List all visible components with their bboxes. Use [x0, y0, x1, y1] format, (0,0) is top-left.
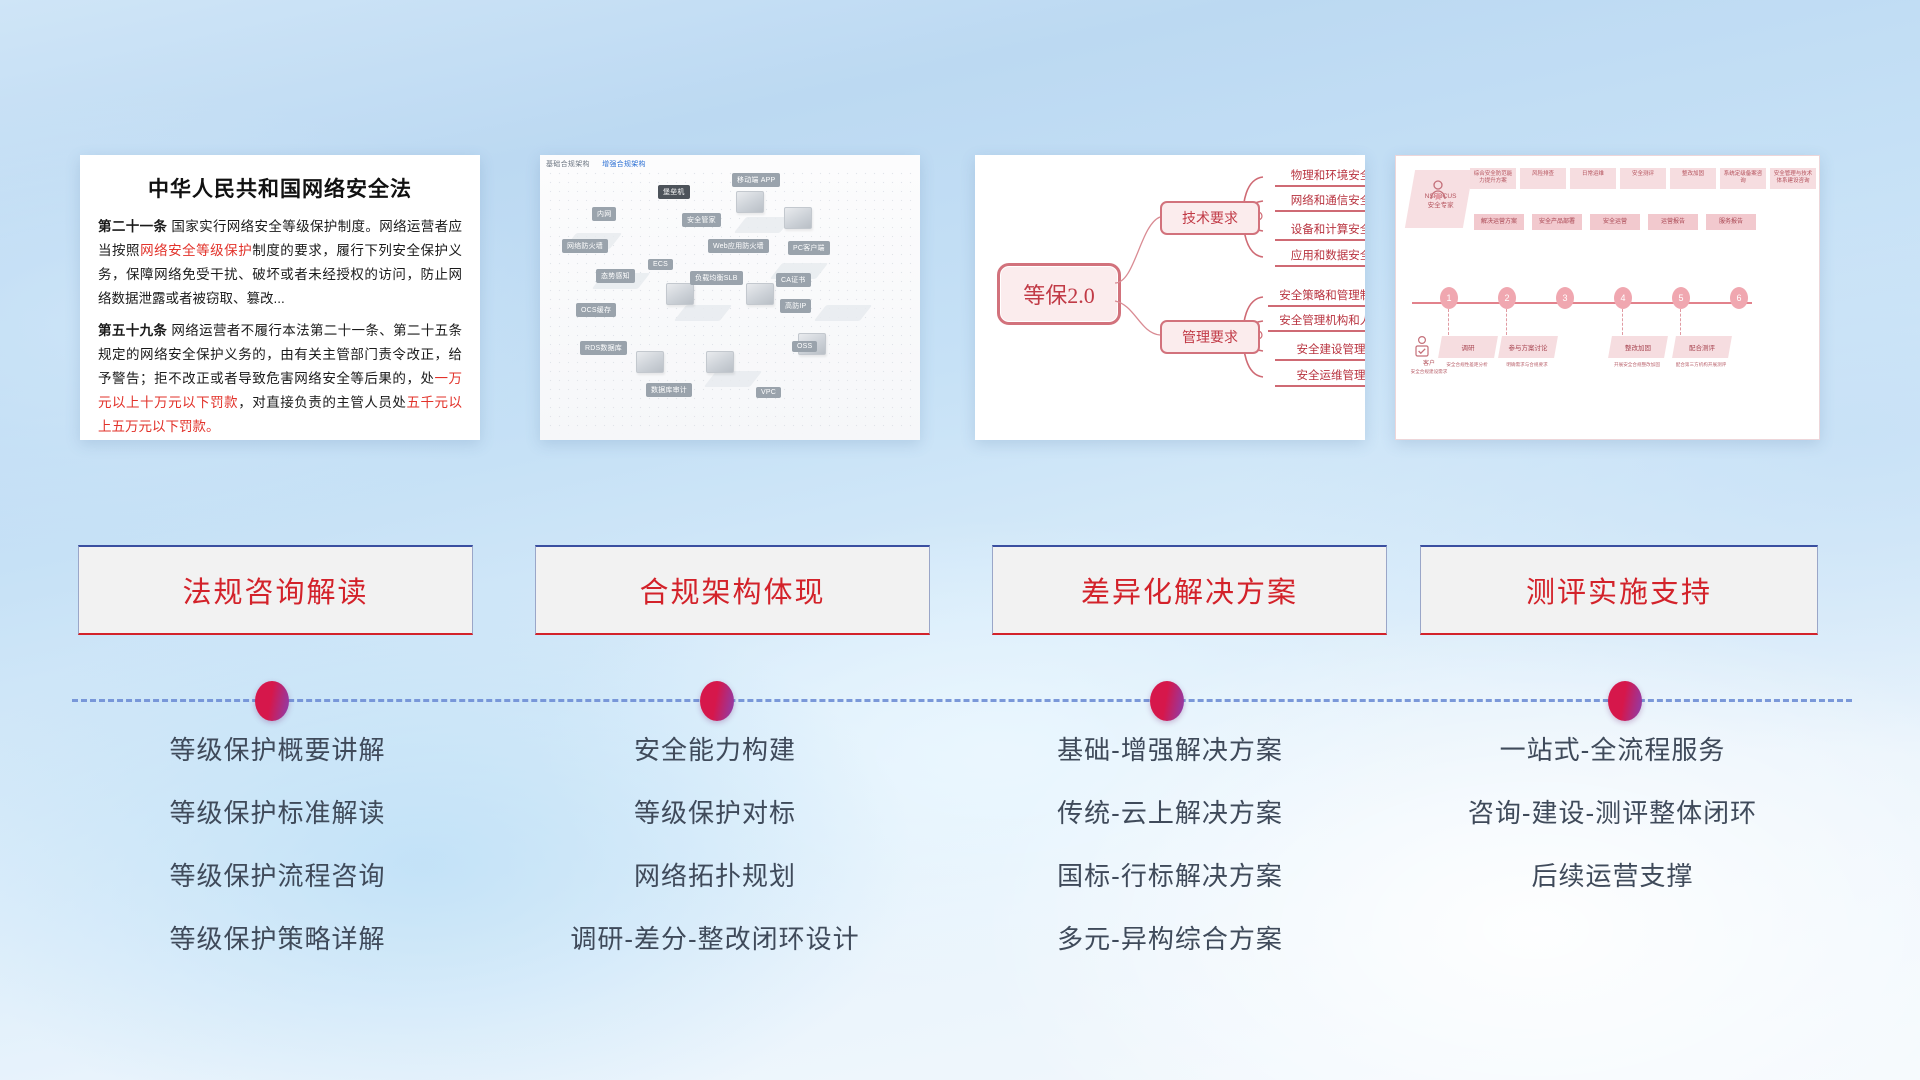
arch-label-node: 态势感知 — [596, 269, 635, 283]
arch-label-node: CA证书 — [776, 273, 811, 287]
law-article-21-highlight: 网络安全等级保护 — [140, 243, 252, 258]
law-document: 中华人民共和国网络安全法 第二十一条 国家实行网络安全等级保护制度。网络运营者应… — [80, 155, 480, 440]
detail-item: 网络拓扑规划 — [500, 856, 930, 893]
nsfocus-phase-tag: 运营报告 — [1648, 214, 1698, 230]
nsfocus-top-tag: 安全管理与技术体系建设咨询 — [1770, 168, 1816, 189]
timeline-marker-2[interactable] — [700, 681, 734, 721]
title-box-differentiated-solution[interactable]: 差异化解决方案 — [992, 545, 1387, 635]
mindmap-leaf: 安全建设管理 — [1275, 341, 1365, 361]
nsfocus-expert-role: 安全专家 — [1412, 201, 1470, 210]
title-box-label: 合规架构体现 — [639, 569, 825, 611]
architecture-tab-enhanced[interactable]: 增强合规架构 — [602, 161, 646, 168]
law-article-59-head: 第五十九条 — [98, 323, 167, 338]
arch-node-icon — [636, 351, 664, 373]
nsfocus-top-tags: 综合安全防范能力提升方案 风险排查 日常运维 安全测评 整改加固 系统定级备案咨… — [1470, 168, 1816, 189]
nsfocus-step-number: 3 — [1556, 287, 1574, 309]
detail-item: 安全能力构建 — [500, 730, 930, 767]
arch-label-node: 高防IP — [780, 299, 811, 313]
nsfocus-flow-step: 参与方案讨论 — [1498, 336, 1558, 358]
service-detail-columns: 等级保护概要讲解 等级保护标准解读 等级保护流程咨询 等级保护策略详解 安全能力… — [0, 730, 1920, 1050]
law-paragraph-59: 第五十九条 网络运营者不履行本法第二十一条、第二十五条规定的网络安全保护义务的，… — [98, 319, 462, 439]
detail-item: 等级保护标准解读 — [65, 793, 490, 830]
nsfocus-top-tag: 风险排查 — [1520, 168, 1566, 189]
mindmap-leaf: 应用和数据安全 — [1275, 247, 1365, 267]
arch-label-node: ECS — [648, 259, 673, 270]
mindmap-leaf: 设备和计算安全 — [1275, 221, 1365, 241]
arch-label-node: 堡垒机 — [658, 185, 690, 199]
arch-label-node: 负载均衡SLB — [690, 271, 743, 285]
card-nsfocus-service-flow[interactable]: NSFOCUS 安全专家 综合安全防范能力提升方案 风险排查 日常运维 安全测评… — [1395, 155, 1820, 440]
architecture-tabs[interactable]: 基础合规架构 增强合规架构 — [546, 159, 656, 169]
card-mindmap-dengbao[interactable]: 等保2.0 技术要求 管理要求 物理和环境安全 网络和通信安全 设备和计算安全 — [975, 155, 1365, 440]
nsfocus-flow-step: 整改加固 — [1608, 336, 1668, 358]
mindmap-leaf: 安全策略和管理制度 — [1268, 287, 1365, 307]
detail-item: 等级保护对标 — [500, 793, 930, 830]
detail-item: 等级保护流程咨询 — [65, 856, 490, 893]
top-image-cards: 中华人民共和国网络安全法 第二十一条 国家实行网络安全等级保护制度。网络运营者应… — [0, 0, 1920, 440]
mindmap-leaf: 安全管理机构和人员 — [1268, 312, 1365, 332]
nsfocus-timeline-axis — [1412, 302, 1752, 304]
mindmap: 等保2.0 技术要求 管理要求 物理和环境安全 网络和通信安全 设备和计算安全 — [975, 155, 1365, 440]
arch-label-node: 数据库审计 — [646, 383, 692, 397]
law-title: 中华人民共和国网络安全法 — [98, 173, 462, 203]
nsfocus-step-number: 4 — [1614, 287, 1632, 309]
title-box-compliance-architecture[interactable]: 合规架构体现 — [535, 545, 930, 635]
timeline-marker-3[interactable] — [1150, 681, 1184, 721]
arch-label-node: VPC — [756, 387, 781, 398]
title-box-label: 测评实施支持 — [1526, 569, 1712, 611]
arch-label-node: PC客户端 — [788, 241, 830, 255]
law-article-21-head: 第二十一条 — [98, 219, 167, 234]
nsfocus-flow-substep: 配合第三方机构开展测评 — [1666, 362, 1736, 368]
nsfocus-phase-tag: 安全运营 — [1590, 214, 1640, 230]
detail-item: 基础-增强解决方案 — [955, 730, 1385, 767]
timeline-marker-1[interactable] — [255, 681, 289, 721]
nsfocus-diagram: NSFOCUS 安全专家 综合安全防范能力提升方案 风险排查 日常运维 安全测评… — [1395, 155, 1820, 440]
arch-label-node: 移动端 APP — [732, 173, 780, 187]
nsfocus-top-tag: 综合安全防范能力提升方案 — [1470, 168, 1516, 189]
nsfocus-phase-tag: 服务报告 — [1706, 214, 1756, 230]
detail-item: 一站式-全流程服务 — [1395, 730, 1830, 767]
nsfocus-dash-connector — [1622, 309, 1623, 335]
law-article-59-text-b: ，对直接负责的主管人员处 — [238, 395, 406, 410]
title-box-regulation-consulting[interactable]: 法规咨询解读 — [78, 545, 473, 635]
arch-node-icon — [736, 191, 764, 213]
title-box-label: 法规咨询解读 — [182, 569, 368, 611]
arch-node-icon — [706, 351, 734, 373]
nsfocus-step-number: 5 — [1672, 287, 1690, 309]
nsfocus-flow-substep: 开展安全合规整改加固 — [1602, 362, 1672, 368]
card-cybersecurity-law[interactable]: 中华人民共和国网络安全法 第二十一条 国家实行网络安全等级保护制度。网络运营者应… — [80, 155, 480, 440]
nsfocus-top-tag: 系统定级备案咨询 — [1720, 168, 1766, 189]
mindmap-leaf: 安全运维管理 — [1275, 367, 1365, 387]
card-compliance-architecture[interactable]: 基础合规架构 增强合规架构 堡垒机 内网 网络防火墙 安全管家 移动端 APP … — [540, 155, 920, 440]
nsfocus-dash-connector — [1680, 309, 1681, 335]
nsfocus-flow-step: 调研 — [1438, 336, 1498, 358]
arch-label-node: Web应用防火墙 — [708, 239, 769, 253]
detail-item: 等级保护概要讲解 — [65, 730, 490, 767]
arch-node-icon — [666, 283, 694, 305]
detail-column-architecture: 安全能力构建 等级保护对标 网络拓扑规划 调研-差分-整改闭环设计 — [500, 730, 930, 982]
arch-label-node: 内网 — [592, 207, 616, 221]
mindmap-branch-technical: 技术要求 — [1160, 201, 1260, 235]
title-box-label: 差异化解决方案 — [1081, 569, 1298, 611]
nsfocus-dash-connector — [1448, 309, 1449, 335]
nsfocus-flow-step: 配合测评 — [1672, 336, 1732, 358]
arch-node-icon — [784, 207, 812, 229]
arch-node-icon — [746, 283, 774, 305]
arch-label-node: 网络防火墙 — [562, 239, 608, 253]
section-title-boxes: 法规咨询解读 合规架构体现 差异化解决方案 测评实施支持 — [0, 545, 1920, 645]
nsfocus-dash-connector — [1506, 309, 1507, 335]
arch-label-node: RDS数据库 — [580, 341, 627, 355]
nsfocus-top-tag: 日常运维 — [1570, 168, 1616, 189]
architecture-diagram: 基础合规架构 增强合规架构 堡垒机 内网 网络防火墙 安全管家 移动端 APP … — [540, 155, 920, 440]
arch-label-node: 安全管家 — [682, 213, 721, 227]
detail-item: 等级保护策略详解 — [65, 919, 490, 956]
architecture-tab-basic[interactable]: 基础合规架构 — [546, 161, 590, 168]
mindmap-leaf: 物理和环境安全 — [1275, 167, 1365, 187]
nsfocus-top-tag: 安全测评 — [1620, 168, 1666, 189]
mindmap-branch-management: 管理要求 — [1160, 320, 1260, 354]
nsfocus-step-number: 1 — [1440, 287, 1458, 309]
timeline-dashed-line — [72, 699, 1852, 702]
nsfocus-customer-sub: 安全合规建设需求 — [1404, 369, 1454, 376]
timeline-marker-4[interactable] — [1608, 681, 1642, 721]
title-box-evaluation-support[interactable]: 测评实施支持 — [1420, 545, 1818, 635]
person-star-icon — [1426, 178, 1450, 202]
nsfocus-phase-tag: 安全产品部署 — [1532, 214, 1582, 230]
nsfocus-top-tag: 整改加固 — [1670, 168, 1716, 189]
detail-item: 调研-差分-整改闭环设计 — [500, 919, 930, 956]
person-check-icon — [1410, 334, 1434, 358]
detail-item: 多元-异构综合方案 — [955, 919, 1385, 956]
nsfocus-phase-tags: 解决运营方案 安全产品部署 安全运营 运营报告 服务报告 — [1474, 214, 1756, 230]
mindmap-leaf: 网络和通信安全 — [1275, 192, 1365, 212]
detail-item: 咨询-建设-测评整体闭环 — [1395, 793, 1830, 830]
detail-item: 国标-行标解决方案 — [955, 856, 1385, 893]
detail-item: 传统-云上解决方案 — [955, 793, 1385, 830]
detail-column-regulation: 等级保护概要讲解 等级保护标准解读 等级保护流程咨询 等级保护策略详解 — [65, 730, 490, 982]
nsfocus-phase-tag: 解决运营方案 — [1474, 214, 1524, 230]
arch-label-node: OSS — [792, 341, 817, 352]
law-paragraph-21: 第二十一条 国家实行网络安全等级保护制度。网络运营者应当按照网络安全等级保护制度… — [98, 215, 462, 311]
nsfocus-step-number: 2 — [1498, 287, 1516, 309]
detail-column-solution: 基础-增强解决方案 传统-云上解决方案 国标-行标解决方案 多元-异构综合方案 — [955, 730, 1385, 982]
arch-label-node: OCS缓存 — [576, 303, 616, 317]
nsfocus-step-number: 6 — [1730, 287, 1748, 309]
detail-item: 后续运营支撑 — [1395, 856, 1830, 893]
nsfocus-flow-substep: 明确需求与合规要求 — [1492, 362, 1562, 368]
detail-column-evaluation: 一站式-全流程服务 咨询-建设-测评整体闭环 后续运营支撑 — [1395, 730, 1830, 919]
